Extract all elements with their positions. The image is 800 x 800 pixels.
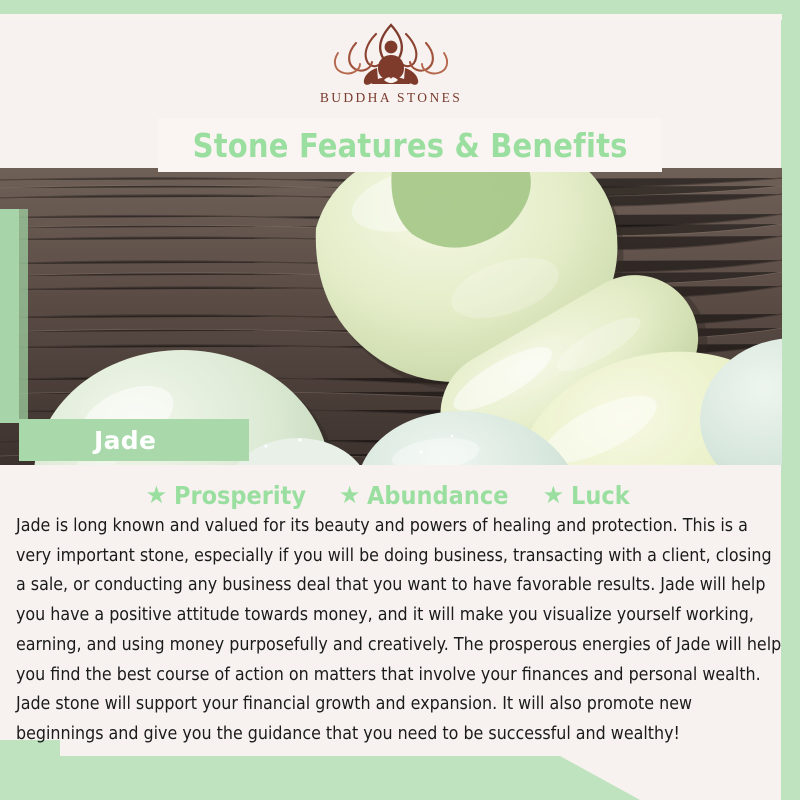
star-icon: ★	[543, 483, 565, 507]
benefit-label: Prosperity	[174, 481, 306, 510]
benefit-item: ★ Abundance	[330, 481, 534, 510]
section-title-banner: Stone Features & Benefits	[158, 118, 662, 172]
lotus-meditation-icon	[316, 20, 466, 88]
right-green-border	[781, 0, 800, 800]
page-title: Stone Features & Benefits	[193, 126, 628, 165]
star-icon: ★	[146, 483, 168, 507]
product-info-card: BUDDHA STONES	[0, 0, 800, 800]
stone-name-bar: Jade	[19, 419, 249, 461]
bottom-green-banner	[0, 756, 640, 800]
benefits-row: ★ Prosperity ★ Abundance ★ Luck	[0, 478, 782, 512]
left-green-accent-inner	[19, 209, 28, 423]
benefit-label: Abundance	[367, 481, 508, 510]
brand-wordmark: BUDDHA STONES	[320, 90, 462, 106]
benefit-item: ★ Luck	[534, 481, 646, 510]
brand-header: BUDDHA STONES	[0, 20, 782, 120]
benefit-label: Luck	[571, 481, 630, 510]
star-icon: ★	[339, 483, 361, 507]
left-green-accent	[0, 209, 19, 423]
stone-name-label: Jade	[94, 426, 156, 455]
benefit-item: ★ Prosperity	[137, 481, 330, 510]
stone-description: Jade is long known and valued for its be…	[16, 512, 782, 750]
